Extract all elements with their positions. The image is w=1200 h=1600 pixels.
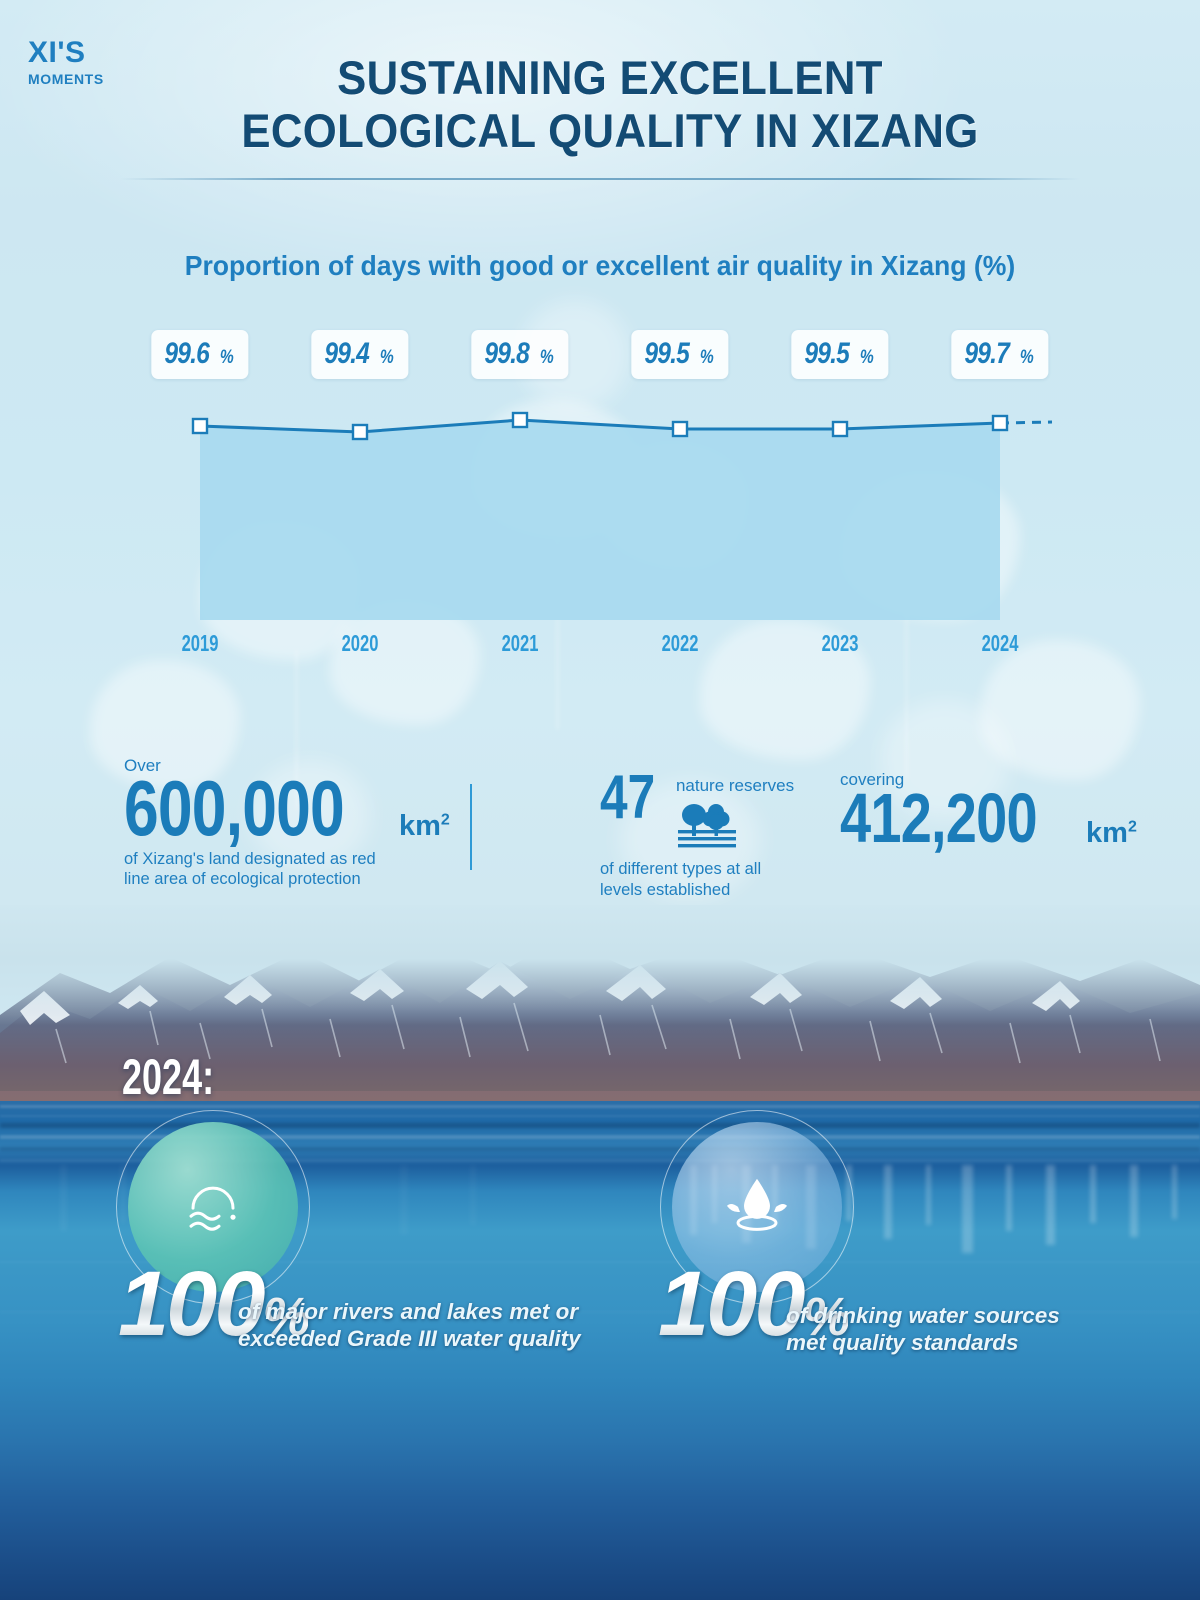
stat2-caption: of different types at all levels establi… bbox=[600, 859, 800, 900]
brand-line-2: MOMENTS bbox=[28, 72, 148, 86]
chart-year-label: 2022 bbox=[654, 630, 705, 657]
chart-marker bbox=[833, 422, 847, 436]
stat1-caption: of Xizang's land designated as red line … bbox=[124, 849, 454, 890]
chart-marker bbox=[353, 425, 367, 439]
chart-value-label: 99.8% bbox=[471, 330, 568, 379]
title-line-2: ECOLOGICAL QUALITY IN XIZANG bbox=[201, 105, 1019, 158]
stats-divider bbox=[470, 784, 472, 870]
atmospheric-haze bbox=[0, 905, 1200, 1025]
brand-line-1: XI'S bbox=[28, 38, 148, 68]
drinking-water-caption: of drinking water sources met quality st… bbox=[786, 1302, 1186, 1357]
stat1-unit: km2 bbox=[399, 810, 450, 842]
chart-value-label: 99.7% bbox=[951, 330, 1048, 379]
chart-year-label: 2021 bbox=[494, 630, 545, 657]
stats-row: Over 600,000km2 of Xizang's land designa… bbox=[0, 756, 1200, 926]
chart-plot-area bbox=[120, 402, 1080, 620]
water-section-year: 2024: bbox=[122, 1048, 250, 1106]
chart-year-label: 2020 bbox=[334, 630, 385, 657]
rivers-lakes-caption: of major rivers and lakes met or exceede… bbox=[238, 1298, 638, 1353]
stat-red-line-area: Over 600,000km2 of Xizang's land designa… bbox=[124, 756, 454, 890]
chart-marker bbox=[673, 422, 687, 436]
chart-marker bbox=[193, 419, 207, 433]
lake-sun-icon bbox=[180, 1176, 246, 1243]
chart-year-label: 2019 bbox=[174, 630, 225, 657]
stat2-label: nature reserves bbox=[676, 776, 794, 795]
stat2-value: 47 bbox=[600, 770, 669, 826]
stat-reserve-area: covering 412,200km2 bbox=[840, 770, 1140, 850]
chart-marker bbox=[993, 416, 1007, 430]
title-divider bbox=[120, 178, 1080, 180]
stat3-unit: km2 bbox=[1086, 817, 1137, 849]
chart-svg bbox=[120, 402, 1080, 620]
page-title: SUSTAINING EXCELLENT ECOLOGICAL QUALITY … bbox=[201, 52, 1019, 157]
chart-value-label: 99.5% bbox=[791, 330, 888, 379]
stat-nature-reserves: 47 nature reserves bbox=[600, 770, 800, 900]
chart-year-label: 2023 bbox=[814, 630, 865, 657]
brand-logo: XI'S MOMENTS bbox=[28, 38, 148, 86]
chart-marker bbox=[513, 413, 527, 427]
chart-value-label: 99.5% bbox=[631, 330, 728, 379]
chart-value-label: 99.4% bbox=[311, 330, 408, 379]
chart-title: Proportion of days with good or excellen… bbox=[30, 250, 1170, 282]
chart-value-label: 99.6% bbox=[151, 330, 248, 379]
title-line-1: SUSTAINING EXCELLENT bbox=[201, 52, 1019, 105]
stat1-value: 600,000 bbox=[124, 764, 399, 852]
chart-year-label: 2024 bbox=[974, 630, 1025, 657]
trees-icon bbox=[676, 800, 794, 853]
infographic-page: XI'S MOMENTS SUSTAINING EXCELLENT ECOLOG… bbox=[0, 0, 1200, 1600]
stat3-value: 412,200 bbox=[840, 779, 1086, 857]
water-drop-icon bbox=[724, 1175, 790, 1242]
chart-x-axis-labels: 201920202021202220232024 bbox=[120, 630, 1080, 664]
air-quality-line-chart: 99.6%99.4%99.8%99.5%99.5%99.7% 201920202… bbox=[120, 330, 1080, 670]
